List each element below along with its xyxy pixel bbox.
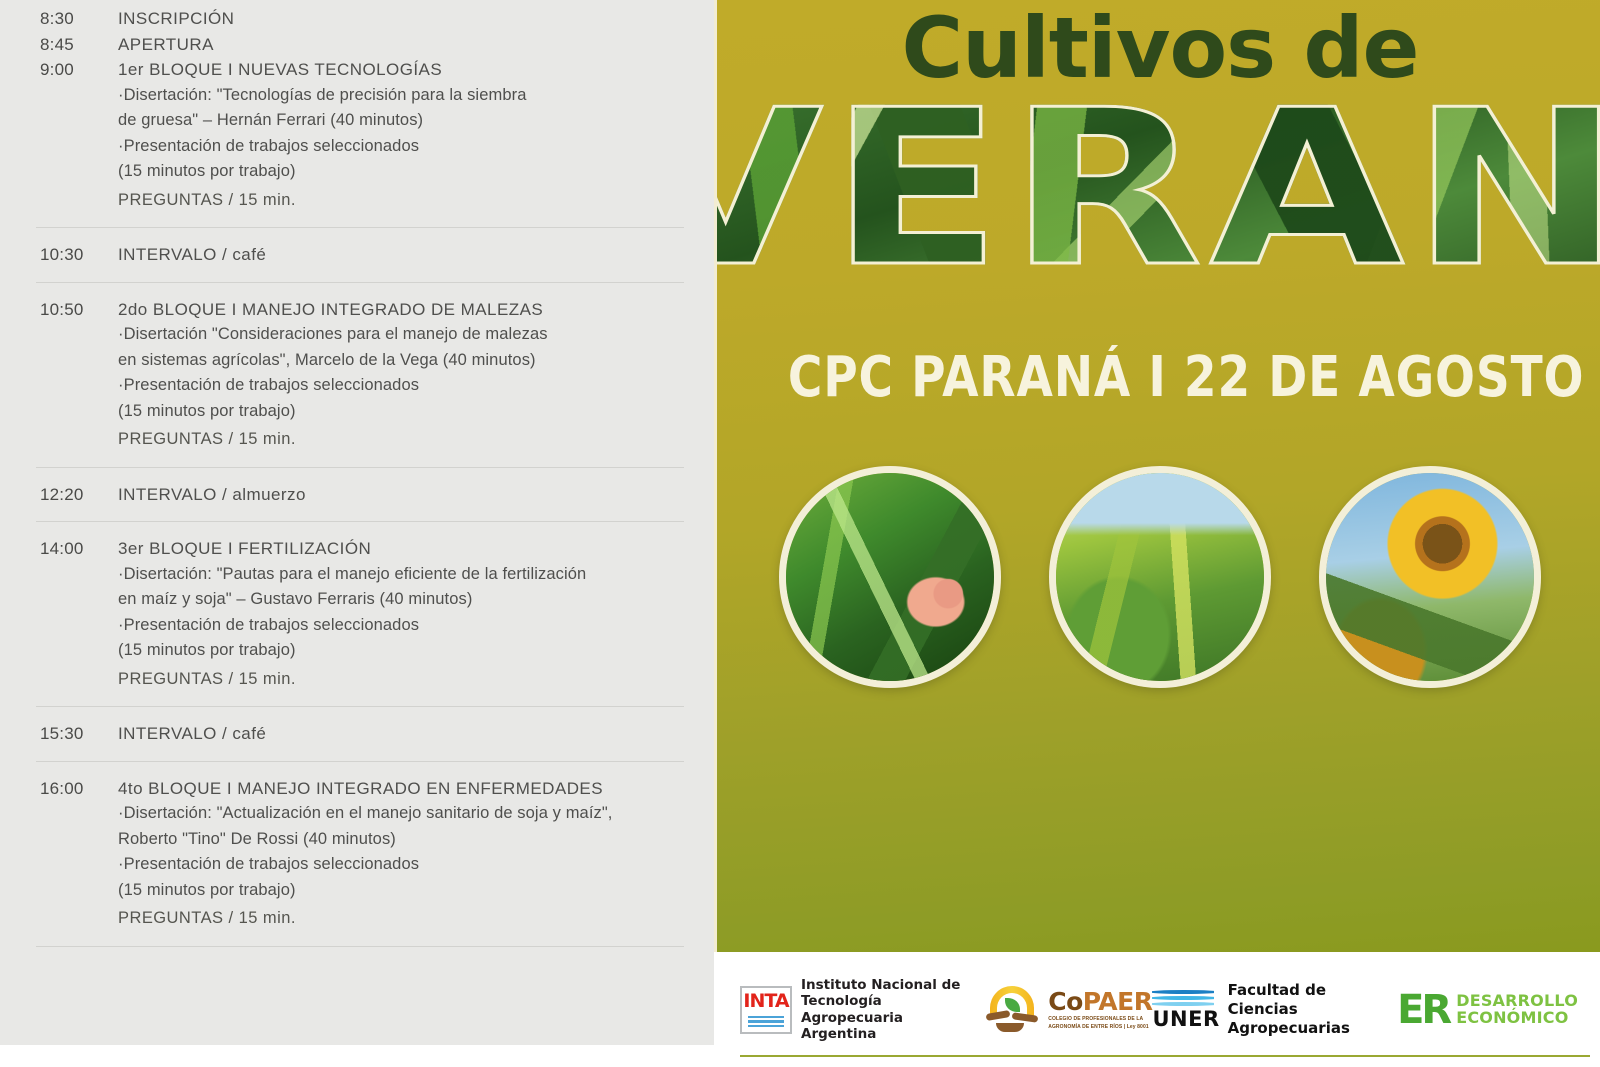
agenda-entry: 8:45APERTURA xyxy=(0,32,714,58)
agenda-detail-line: en maíz y soja" – Gustavo Ferraris (40 m… xyxy=(118,587,660,613)
agenda-content: APERTURA xyxy=(118,32,684,58)
copaer-paer: PAER xyxy=(1083,987,1153,1016)
agenda-content: 2do BLOQUE I MANEJO INTEGRADO DE MALEZAS… xyxy=(118,297,684,453)
agenda-divider xyxy=(36,227,684,228)
inta-logo: INTA Instituto Nacional de Tecnología Ag… xyxy=(740,977,984,1043)
agenda-questions: PREGUNTAS / 15 min. xyxy=(118,185,660,214)
agenda-entry: 8:30INSCRIPCIÓN xyxy=(0,6,714,32)
agenda-detail-line: ·Presentación de trabajos seleccionados xyxy=(118,373,660,399)
inta-stripes-icon xyxy=(748,1014,784,1028)
poster-title-line2-wrap: VERANO xyxy=(717,86,1600,292)
agenda-time: 10:30 xyxy=(0,242,118,268)
copaer-sub1: COLEGIO DE PROFESIONALES DE LA xyxy=(1048,1016,1152,1022)
agenda-detail-line: ·Presentación de trabajos seleccionados xyxy=(118,134,660,160)
inta-wordmark: INTA xyxy=(743,992,788,1011)
agenda-entry: 10:502do BLOQUE I MANEJO INTEGRADO DE MA… xyxy=(0,297,714,453)
agenda-row: 9:001er BLOQUE I NUEVAS TECNOLOGÍAS·Dise… xyxy=(0,57,684,213)
agenda-row: 14:003er BLOQUE I FERTILIZACIÓN·Disertac… xyxy=(0,536,684,692)
copaer-wordmark: CoPAER xyxy=(1048,989,1152,1014)
agenda-divider xyxy=(36,521,684,522)
agenda-detail-line: (15 minutos por trabajo) xyxy=(118,878,660,904)
agenda-content: 4to BLOQUE I MANEJO INTEGRADO EN ENFERME… xyxy=(118,776,684,932)
agenda-divider xyxy=(36,946,684,947)
agenda-entry-title: 2do BLOQUE I MANEJO INTEGRADO DE MALEZAS xyxy=(118,297,660,323)
poster-title-line2: VERANO xyxy=(714,86,1600,292)
agenda-divider xyxy=(36,761,684,762)
agenda-time: 8:30 xyxy=(0,6,118,32)
agenda-row: 10:30INTERVALO / café xyxy=(0,242,684,268)
agenda-row: 16:004to BLOQUE I MANEJO INTEGRADO EN EN… xyxy=(0,776,684,932)
inta-line3: Argentina xyxy=(801,1026,984,1042)
copaer-logo: CoPAER COLEGIO DE PROFESIONALES DE LA AG… xyxy=(984,986,1152,1034)
agenda-content: INTERVALO / almuerzo xyxy=(118,482,684,508)
agenda-time: 10:50 xyxy=(0,297,118,323)
agenda-questions: PREGUNTAS / 15 min. xyxy=(118,424,660,453)
uner-line1: Facultad de Ciencias xyxy=(1228,981,1397,1019)
agenda-row: 12:20INTERVALO / almuerzo xyxy=(0,482,684,508)
agenda-detail-line: (15 minutos por trabajo) xyxy=(118,159,660,185)
agenda-entry-title: INTERVALO / café xyxy=(118,721,660,747)
agenda-divider xyxy=(36,282,684,283)
agenda-panel: 8:30INSCRIPCIÓN8:45APERTURA9:001er BLOQU… xyxy=(0,0,714,1067)
agenda-content: 1er BLOQUE I NUEVAS TECNOLOGÍAS·Disertac… xyxy=(118,57,684,213)
bottom-white-strip xyxy=(0,1045,714,1067)
agenda-detail-line: ·Presentación de trabajos seleccionados xyxy=(118,613,660,639)
agenda-entry-title: 4to BLOQUE I MANEJO INTEGRADO EN ENFERME… xyxy=(118,776,660,802)
agenda-entry: 15:30INTERVALO / café xyxy=(0,721,714,747)
agenda-row: 15:30INTERVALO / café xyxy=(0,721,684,747)
agenda-row: 8:30INSCRIPCIÓN xyxy=(0,6,684,32)
uner-acronym: UNER xyxy=(1152,1009,1219,1030)
agenda-content: 3er BLOQUE I FERTILIZACIÓN·Disertación: … xyxy=(118,536,684,692)
agenda-time: 15:30 xyxy=(0,721,118,747)
poster-subtitle: CPC PARANÁ I 22 DE AGOSTO xyxy=(788,345,1532,410)
agenda-detail-line: ·Presentación de trabajos seleccionados xyxy=(118,852,660,878)
agenda-time: 16:00 xyxy=(0,776,118,802)
agenda-detail-line: de gruesa" – Hernán Ferrari (40 minutos) xyxy=(118,108,660,134)
uner-line2: Agropecuarias xyxy=(1228,1019,1397,1038)
copaer-sub2: AGRONOMÍA DE ENTRE RÍOS | Ley 8001 xyxy=(1048,1024,1152,1030)
inta-line1: Instituto Nacional de xyxy=(801,977,984,993)
er-line1: DESARROLLO xyxy=(1456,993,1578,1010)
agenda-content: INTERVALO / café xyxy=(118,242,684,268)
inta-line2: Tecnología Agropecuaria xyxy=(801,993,984,1026)
agenda-detail-line: ·Disertación: "Actualización en el manej… xyxy=(118,801,660,827)
sponsor-logo-bar: INTA Instituto Nacional de Tecnología Ag… xyxy=(714,952,1600,1067)
agenda-row: 10:502do BLOQUE I MANEJO INTEGRADO DE MA… xyxy=(0,297,684,453)
uner-logo: UNER Facultad de Ciencias Agropecuarias xyxy=(1152,981,1397,1037)
copaer-sun-field-icon xyxy=(984,986,1042,1034)
sunflower-photo xyxy=(1319,466,1541,688)
agenda-time: 8:45 xyxy=(0,32,118,58)
agenda-detail-line: ·Disertación: "Tecnologías de precisión … xyxy=(118,83,660,109)
uner-wave-icon xyxy=(1152,989,1214,1006)
agenda-divider xyxy=(36,706,684,707)
agenda-entry-title: INSCRIPCIÓN xyxy=(118,6,660,32)
agenda-detail-line: Roberto "Tino" De Rossi (40 minutos) xyxy=(118,827,660,853)
agenda-divider xyxy=(36,467,684,468)
agenda-entry-title: INTERVALO / café xyxy=(118,242,660,268)
inta-mark-icon: INTA xyxy=(740,986,792,1034)
uner-logo-text: Facultad de Ciencias Agropecuarias xyxy=(1228,981,1397,1037)
agenda-entry: 14:003er BLOQUE I FERTILIZACIÓN·Disertac… xyxy=(0,536,714,692)
agenda-entry: 10:30INTERVALO / café xyxy=(0,242,714,268)
agenda-questions: PREGUNTAS / 15 min. xyxy=(118,903,660,932)
agenda-row: 8:45APERTURA xyxy=(0,32,684,58)
agenda-content: INTERVALO / café xyxy=(118,721,684,747)
agenda-detail-line: ·Disertación "Consideraciones para el ma… xyxy=(118,322,660,348)
inta-logo-text: Instituto Nacional de Tecnología Agropec… xyxy=(801,977,984,1043)
agenda-questions: PREGUNTAS / 15 min. xyxy=(118,664,660,693)
poster-panel: Cultivos de VERANO CPC PARANÁ I 22 DE AG… xyxy=(714,0,1600,1067)
agenda-detail-line: (15 minutos por trabajo) xyxy=(118,638,660,664)
agenda-content: INSCRIPCIÓN xyxy=(118,6,684,32)
soybean-field-photo xyxy=(1049,466,1271,688)
er-line2: ECONÓMICO xyxy=(1456,1010,1578,1027)
agenda-entry-title: INTERVALO / almuerzo xyxy=(118,482,660,508)
agenda-time: 14:00 xyxy=(0,536,118,562)
agenda-detail-line: ·Disertación: "Pautas para el manejo efi… xyxy=(118,562,660,588)
copaer-co: Co xyxy=(1048,987,1083,1016)
er-mark-icon: ER xyxy=(1397,992,1449,1028)
agenda-entry: 12:20INTERVALO / almuerzo xyxy=(0,482,714,508)
poster-artwork: Cultivos de VERANO CPC PARANÁ I 22 DE AG… xyxy=(714,0,1600,952)
agenda-entry: 16:004to BLOQUE I MANEJO INTEGRADO EN EN… xyxy=(0,776,714,932)
agenda-time: 12:20 xyxy=(0,482,118,508)
agenda-time: 9:00 xyxy=(0,57,118,83)
agenda-detail-line: en sistemas agrícolas", Marcelo de la Ve… xyxy=(118,348,660,374)
er-logo-text: DESARROLLO ECONÓMICO xyxy=(1456,993,1578,1027)
agenda-entry: 9:001er BLOQUE I NUEVAS TECNOLOGÍAS·Dise… xyxy=(0,57,714,213)
maize-leaf-photo xyxy=(779,466,1001,688)
poster-photo-row xyxy=(717,466,1600,688)
poster-page: 8:30INSCRIPCIÓN8:45APERTURA9:001er BLOQU… xyxy=(0,0,1600,1067)
agenda-entry-title: 1er BLOQUE I NUEVAS TECNOLOGÍAS xyxy=(118,57,660,83)
agenda-list: 8:30INSCRIPCIÓN8:45APERTURA9:001er BLOQU… xyxy=(0,0,714,947)
agenda-entry-title: 3er BLOQUE I FERTILIZACIÓN xyxy=(118,536,660,562)
agenda-detail-line: (15 minutos por trabajo) xyxy=(118,399,660,425)
er-logo: ER DESARROLLO ECONÓMICO xyxy=(1397,992,1578,1028)
agenda-entry-title: APERTURA xyxy=(118,32,660,58)
